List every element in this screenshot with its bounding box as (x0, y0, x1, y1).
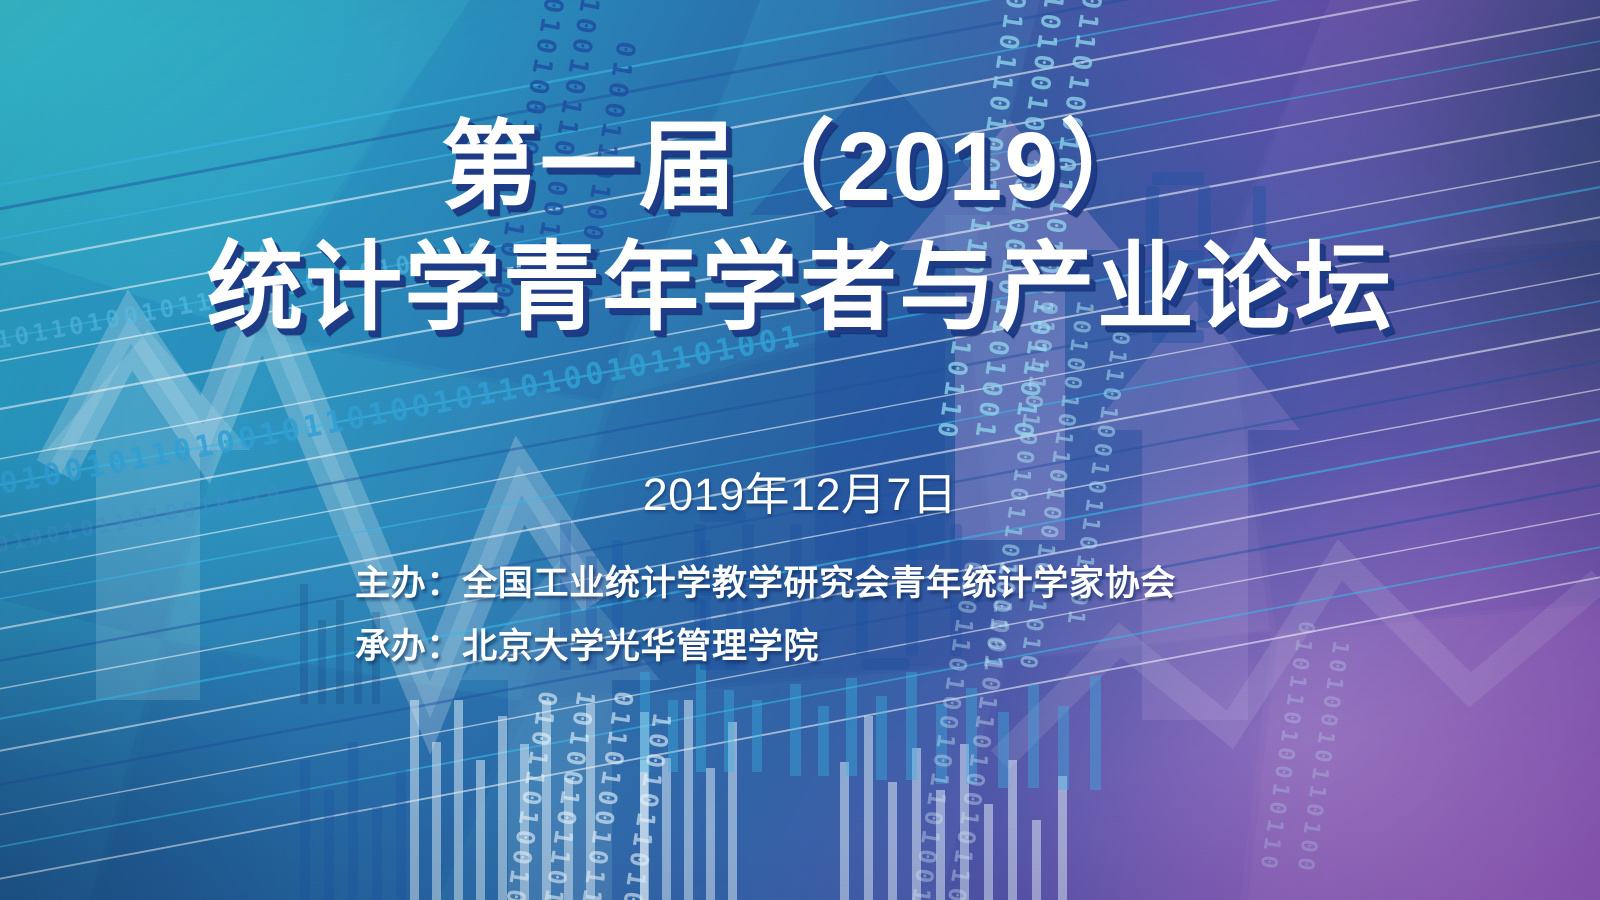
poster-content: 第一届（2019） 统计学青年学者与产业论坛 2019年12月7日 主办：全国工… (0, 0, 1600, 900)
conference-poster: 0101001010110100 1001011010010110 010011… (0, 0, 1600, 900)
organizer-block: 主办：全国工业统计学教学研究会青年统计学家协会 承办：北京大学光华管理学院 (355, 566, 1176, 664)
organizer-undertaker: 承办：北京大学光华管理学院 (355, 629, 1176, 664)
poster-title: 第一届（2019） 统计学青年学者与产业论坛 (0, 118, 1600, 336)
title-line-1: 第一届（2019） (0, 118, 1600, 215)
organizer-host: 主办：全国工业统计学教学研究会青年统计学家协会 (355, 566, 1176, 601)
title-line-2: 统计学青年学者与产业论坛 (0, 239, 1600, 336)
event-date: 2019年12月7日 (0, 458, 1600, 523)
